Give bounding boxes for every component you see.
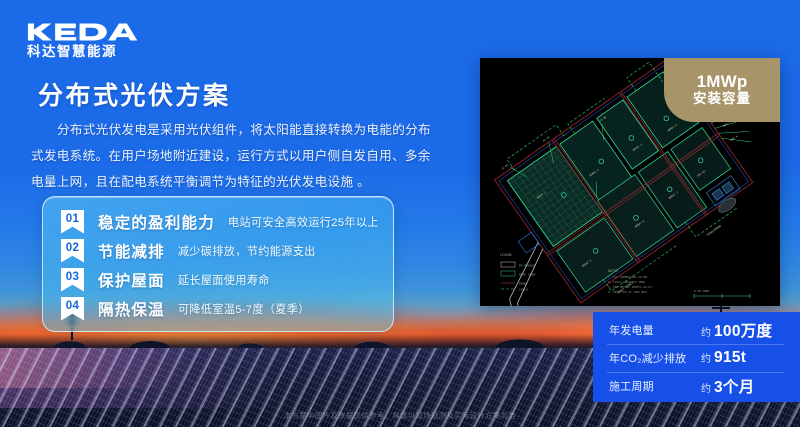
stat-number: 915t [714,349,746,367]
brand-name-cn: 科达智慧能源 [27,45,157,59]
stat-label: 施工周期 [609,378,701,394]
svg-text:NOTES:: NOTES: [608,269,620,273]
feature-row[interactable]: 03 保护屋面 延长屋面使用寿命 [43,265,393,294]
svg-text:3. SEE DETAIL SHEETS 02-07.: 3. SEE DETAIL SHEETS 02-07. [608,285,654,289]
hero-paragraph: 分布式光伏发电是采用光伏组件，将太阳能直接转换为电能的分布式发电系统。在用户场地… [31,118,439,195]
stat-row: 施工周期 约 3个月 [593,372,800,400]
stat-value: 约 915t [701,349,746,367]
feature-number: 04 [61,300,84,312]
numbered-shield-icon: 03 [61,268,84,292]
svg-text:ROAD: ROAD [519,282,526,286]
stat-row: 年发电量 约 100万度 [593,316,800,344]
feature-list-panel: 01 稳定的盈利能力 电站可安全高效运行25年以上 02 节能减排 减少碳排放，… [42,196,394,332]
feature-description: 减少碳排放，节约能源支出 [178,243,316,259]
capacity-value: 1MWp [697,73,748,91]
feature-title: 稳定的盈利能力 [98,211,215,233]
capacity-label: 安装容量 [693,92,751,106]
feature-description: 延长屋面使用寿命 [178,272,270,288]
stat-approx: 约 [701,324,711,339]
stat-row: 年CO₂减少排放 约 915t [593,344,800,372]
svg-text:LEGEND: LEGEND [500,253,512,257]
svg-text:ROOF AREA: ROOF AREA [519,273,535,277]
svg-text:PV MODULE: PV MODULE [519,264,535,268]
cad-site-plan-panel[interactable]: JC-01 PV-A1 PV-B2 ARRAY-1 ARRAY-2 ARRAY-… [480,58,780,306]
stat-value: 约 3个月 [701,375,755,397]
stat-label: 年CO₂减少排放 [609,350,701,366]
feature-title: 隔热保温 [98,298,165,320]
svg-text:4. GRID TIE AT 10kV BUS.: 4. GRID TIE AT 10kV BUS. [608,290,649,294]
numbered-shield-icon: 02 [61,239,84,263]
page-title: 分布式光伏方案 [38,76,231,112]
stat-label: 年发电量 [609,322,701,338]
feature-title: 节能减排 [98,240,165,262]
feature-row[interactable]: 02 节能减排 减少碳排放，节约能源支出 [43,236,393,265]
svg-text:2. TOTAL CAPACITY 1MWp.: 2. TOTAL CAPACITY 1MWp. [608,280,647,284]
feature-description: 可降低室温5-7度（夏季） [178,301,310,317]
feature-row[interactable]: 01 稳定的盈利能力 电站可安全高效运行25年以上 [43,207,393,236]
stat-value: 约 100万度 [701,319,772,341]
stat-approx: 约 [701,380,711,395]
panel-field-tint-warm [0,348,200,388]
feature-title: 保护屋面 [98,269,165,291]
feature-number: 01 [61,213,84,225]
stat-number: 100万度 [714,319,772,341]
stat-number: 3个月 [714,375,755,397]
slide-canvas: 科达智慧能源 分布式光伏方案 分布式光伏发电是采用光伏组件，将太阳能直接转换为电… [0,0,800,427]
feature-number: 02 [61,242,84,254]
footer-disclaimer: 本方案中图片及数据仅供参考，具体以现场勘测及实际设计方案为准 [0,410,800,421]
feature-number: 03 [61,271,84,283]
key-stats-panel: 年发电量 约 100万度 年CO₂减少排放 约 915t 施工周期 约 3个月 [593,312,800,402]
svg-text:CABLE: CABLE [519,288,528,292]
stat-approx: 约 [701,350,711,365]
svg-text:1. ALL DIMENSIONS IN MM.: 1. ALL DIMENSIONS IN MM. [608,275,649,279]
feature-description: 电站可安全高效运行25年以上 [228,214,379,230]
numbered-shield-icon: 04 [61,297,84,321]
brand-logo[interactable]: 科达智慧能源 [27,22,157,59]
feature-row[interactable]: 04 隔热保温 可降低室温5-7度（夏季） [43,294,393,323]
svg-text:0 50 100m: 0 50 100m [694,289,709,293]
numbered-shield-icon: 01 [61,210,84,234]
capacity-badge: 1MWp 安装容量 [664,58,780,122]
keda-wordmark-icon [27,22,149,42]
